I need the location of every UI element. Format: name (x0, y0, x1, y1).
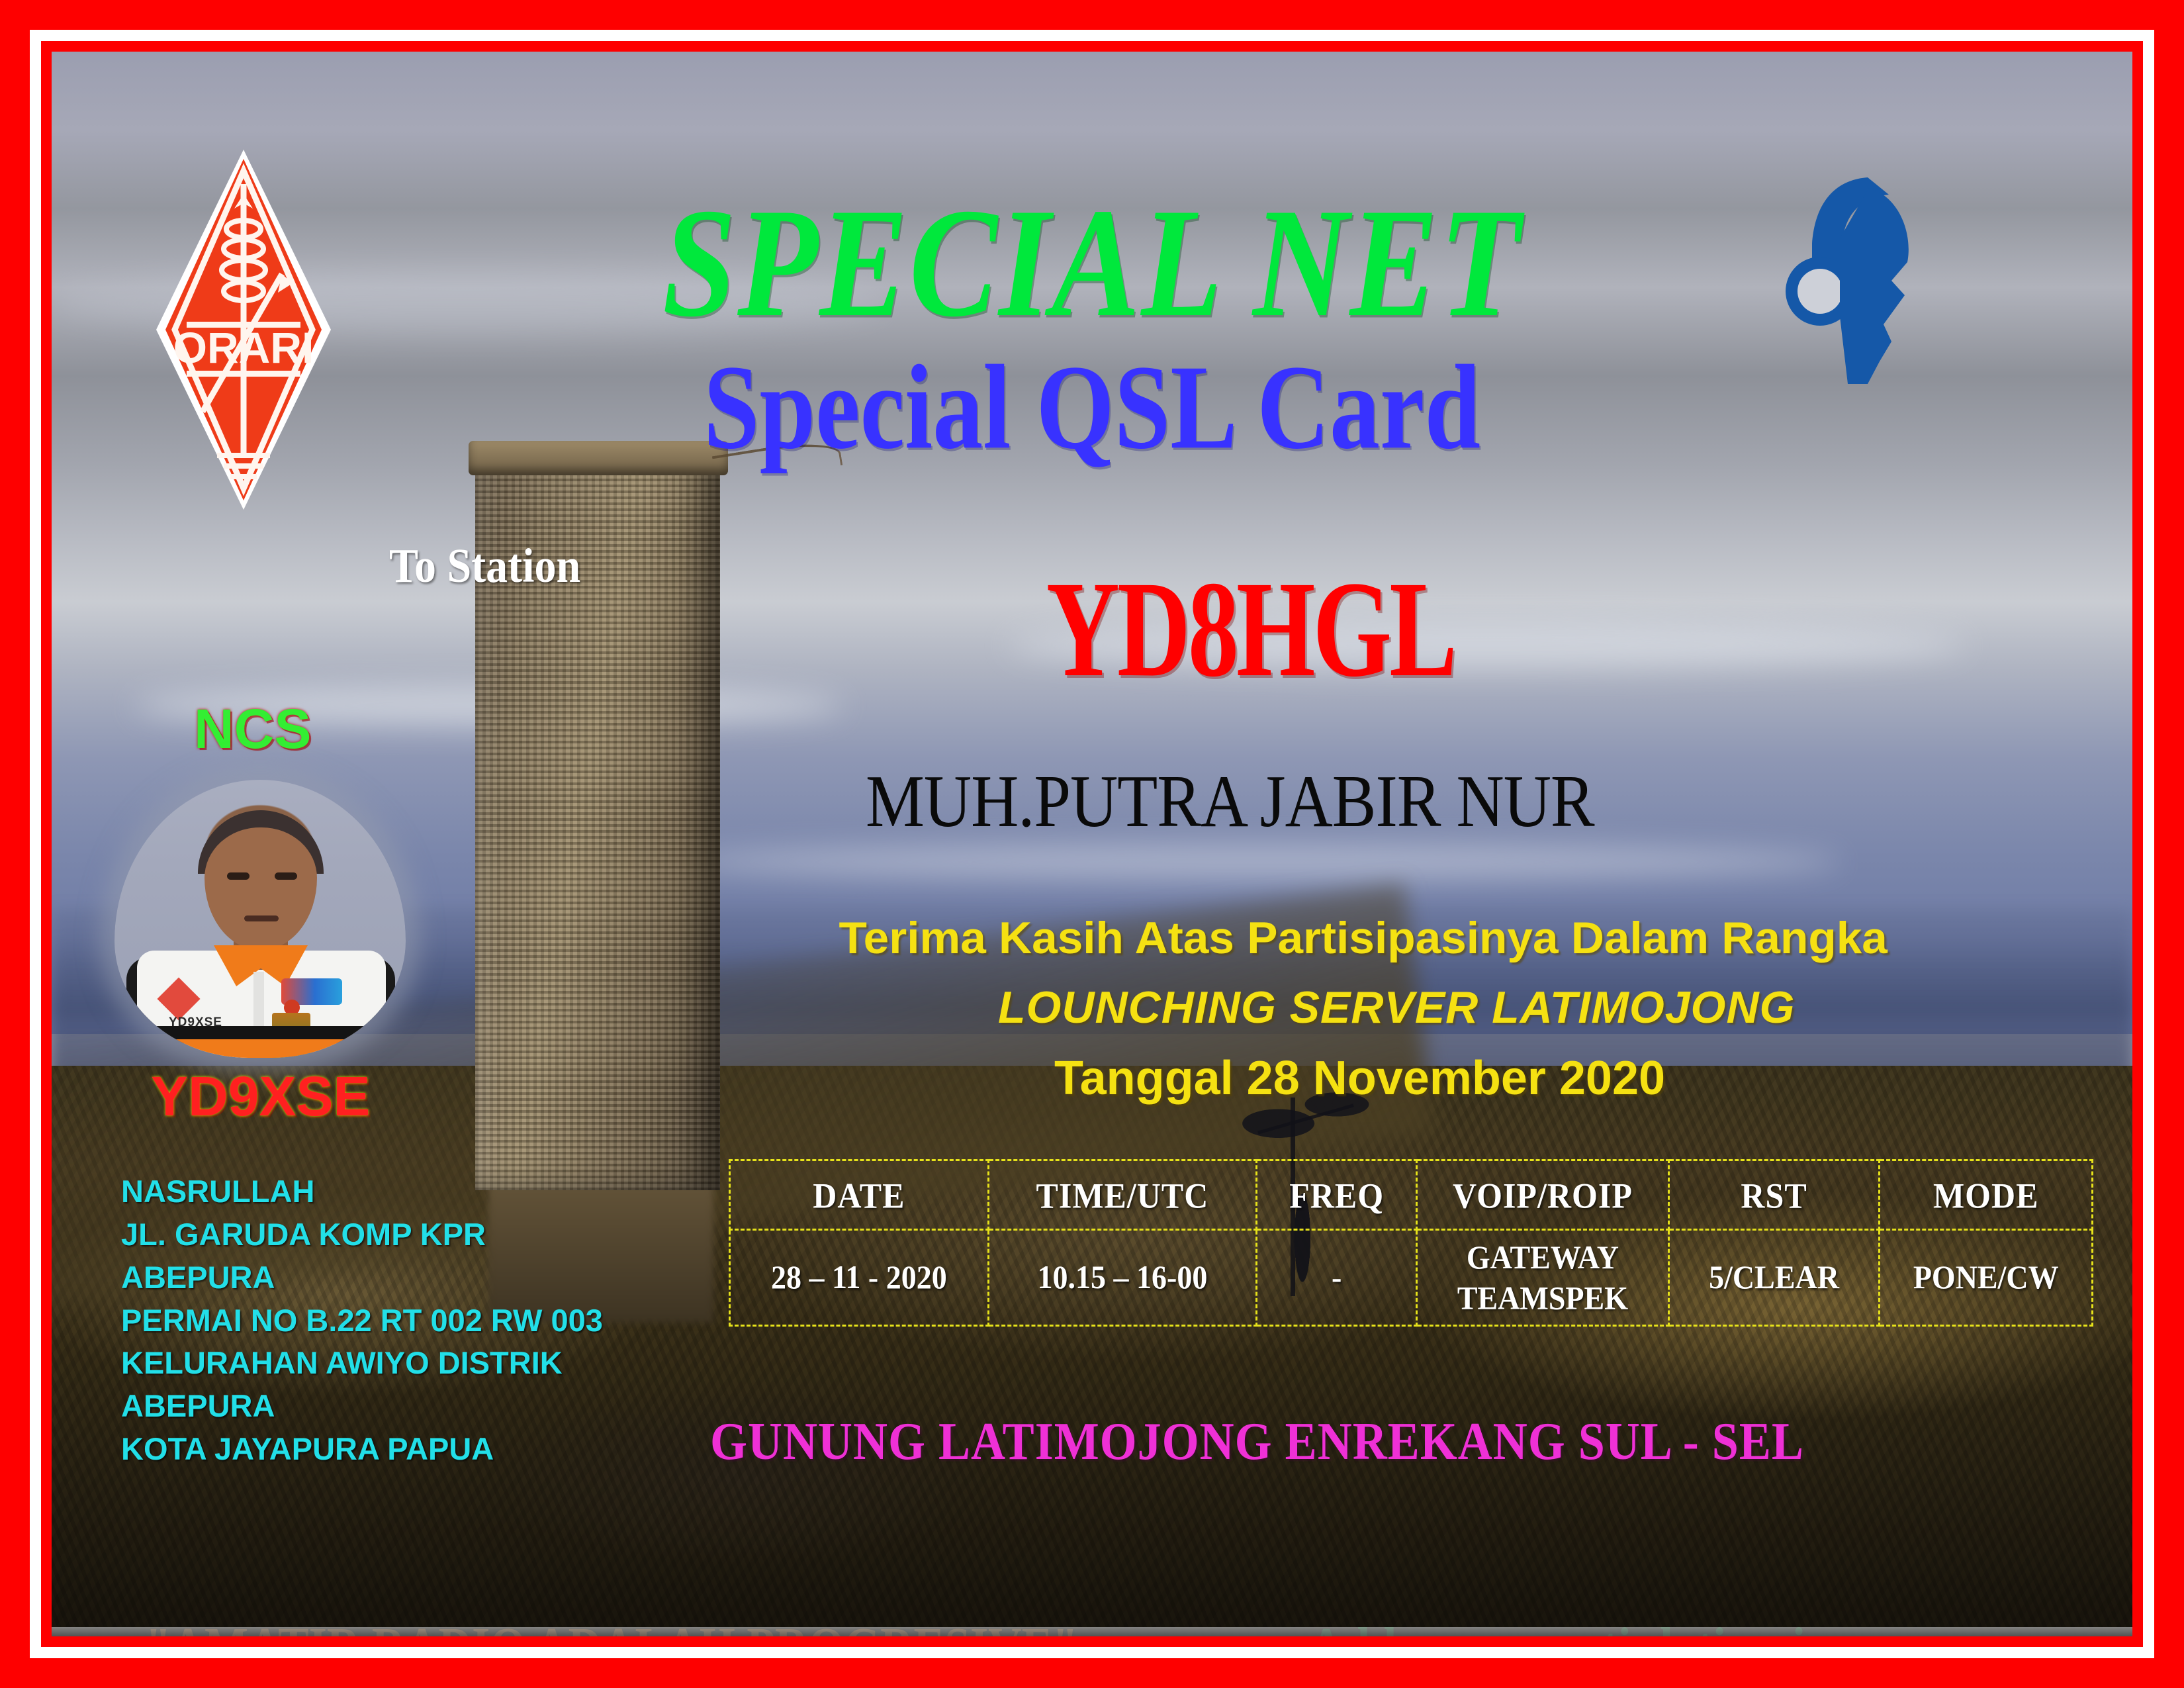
avatar-mouth (244, 915, 279, 921)
address-line: ABEPURA (121, 1256, 603, 1299)
cell-rst: 5/CLEAR (1668, 1226, 1880, 1330)
cell-time: 10.15 – 16-00 (988, 1226, 1257, 1330)
station-callsign: YD8HGL (1046, 549, 1455, 709)
page-subtitle-qsl-card: Special QSL Card (52, 338, 2132, 477)
column-header-mode: MODE (1880, 1157, 2093, 1232)
event-line-2: LOUNCHING SERVER LATIMOJONG (998, 982, 1795, 1033)
avatar-eye-right (275, 872, 297, 880)
address-line: JL. GARUDA KOMP KPR (121, 1213, 603, 1256)
address-line: KOTA JAYAPURA PAPUA (121, 1428, 603, 1471)
avatar-face (205, 827, 317, 950)
cloud-streak (676, 844, 1841, 880)
event-line-3: Tanggal 28 November 2020 (1054, 1051, 1665, 1105)
avatar-callsign-tag: YD9XSE (169, 1015, 222, 1030)
cell-freq: - (1257, 1226, 1417, 1330)
address-line: ABEPURA (121, 1385, 603, 1428)
column-header-date: DATE (730, 1157, 989, 1232)
avatar-sash (141, 1039, 382, 1058)
ncs-label: NCS (194, 697, 311, 761)
qso-details-table: DATE TIME/UTC FREQ VOIP/ROIP RST MODE 28… (729, 1159, 2093, 1327)
event-line-1: Terima Kasih Atas Partisipasinya Dalam R… (839, 912, 1887, 964)
operator-name: MUH.PUTRA JABIR NUR (866, 759, 1594, 844)
ncs-address-block: NASRULLAH JL. GARUDA KOMP KPR ABEPURA PE… (121, 1170, 603, 1471)
page-title-special-net: SPECIAL NET (52, 173, 2132, 352)
address-line: KELURAHAN AWIYO DISTRIK (121, 1342, 603, 1385)
ncs-callsign: YD9XSE (151, 1064, 371, 1129)
cell-date: 28 – 11 - 2020 (730, 1226, 989, 1330)
avatar-eye-left (227, 872, 250, 880)
card-photo-background: ORARI SPECIAL NET Special QSL (52, 52, 2132, 1636)
cell-voip-line2: TEAMSPEK (1457, 1279, 1628, 1315)
column-header-voip: VOIP/ROIP (1417, 1157, 1669, 1232)
cell-voip-line1: GATEWAY (1467, 1239, 1619, 1276)
column-header-rst: RST (1668, 1157, 1880, 1232)
cell-mode: PONE/CW (1880, 1226, 2093, 1330)
photo-bottom-edge (52, 1627, 2132, 1636)
table-header-row: DATE TIME/UTC FREQ VOIP/ROIP RST MODE (730, 1160, 2093, 1230)
column-header-freq: FREQ (1257, 1157, 1417, 1232)
location-text: GUNUNG LATIMOJONG ENREKANG SUL - SEL (710, 1411, 1804, 1472)
address-line: PERMAI NO B.22 RT 002 RW 003 (121, 1299, 603, 1342)
cell-voip: GATEWAY TEAMSPEK (1417, 1226, 1669, 1330)
to-station-label: To Station (389, 539, 580, 594)
column-header-time: TIME/UTC (988, 1157, 1257, 1232)
table-row: 28 – 11 - 2020 10.15 – 16-00 - GATEWAY T… (730, 1230, 2093, 1326)
qsl-card: ORARI SPECIAL NET Special QSL (0, 0, 2184, 1688)
address-line: NASRULLAH (121, 1170, 603, 1213)
